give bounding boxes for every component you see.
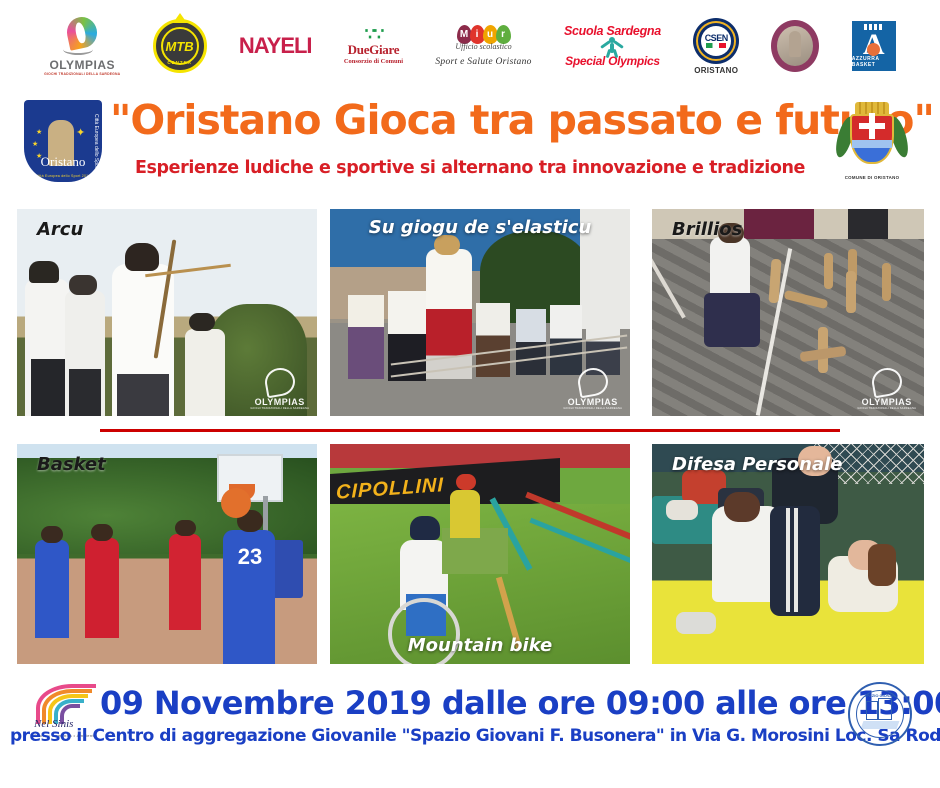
olympias-logo-subtitle: GIOCHI TRADIZIONALI DELLA SARDEGNA xyxy=(44,72,120,76)
due-giare-logo-subtitle: Consorzio di Comuni xyxy=(344,58,403,65)
watermark-title: OLYMPIAS xyxy=(255,397,305,407)
photo-basket: 23 Basket xyxy=(17,444,317,664)
watermark-title: OLYMPIAS xyxy=(862,397,912,407)
watermark-title: OLYMPIAS xyxy=(568,397,618,407)
watermark-subtitle: GIOCHI TRADIZIONALI DELLA SARDEGNA xyxy=(857,407,916,410)
photo-brillios: Brillios OLYMPIAS GIOCHI TRADIZIONALI DE… xyxy=(652,209,924,416)
miur-logo-extra: Sport e Salute Oristano xyxy=(435,57,531,67)
jersey-number: 23 xyxy=(231,544,269,570)
section-divider xyxy=(100,429,840,432)
comune-di-oristano-crest: COMUNE DI ORISTANO xyxy=(832,100,912,184)
due-giare-jars-icon: ∵∵ xyxy=(365,27,383,42)
watermark-subtitle: GIOCHI TRADIZIONALI DELLA SARDEGNA xyxy=(250,407,309,410)
photo-mountain-bike: CIPOLLINI Mountain bike xyxy=(330,444,630,664)
photo-caption: Brillios xyxy=(672,219,742,240)
sartiglia-seal-logo xyxy=(771,20,819,72)
sartiglia-seal-icon xyxy=(771,20,819,72)
event-location: presso il Centro di aggregazione Giovani… xyxy=(10,726,930,746)
azzurra-basket-icon: A AZZURRA BASKET xyxy=(852,21,896,71)
olympias-mark-icon xyxy=(61,17,103,57)
photo-arcu: Arcu OLYMPIAS GIOCHI TRADIZIONALI DELLA … xyxy=(17,209,317,416)
mtb-badge-icon: MTB CENTER xyxy=(153,19,207,73)
azzurra-basket-label: AZZURRA BASKET xyxy=(852,56,896,68)
csen-logo: CSEN ORISTANO xyxy=(693,18,739,75)
mtb-logo-title: MTB xyxy=(166,40,194,53)
azzurra-basket-logo: A AZZURRA BASKET xyxy=(852,21,896,71)
poster-root: OLYMPIAS GIOCHI TRADIZIONALI DELLA SARDE… xyxy=(0,0,940,788)
photo-caption: Mountain bike xyxy=(408,635,553,656)
page-title: "Oristano Gioca tra passato e futuro" xyxy=(110,100,830,141)
comune-crest-caption: COMUNE DI ORISTANO xyxy=(832,175,912,180)
photo-caption: Basket xyxy=(37,454,106,475)
spazio-giovani-logo: SPAZIO GIOVANI xyxy=(848,682,912,746)
watermark-subtitle: GIOCHI TRADIZIONALI DELLA SARDEGNA xyxy=(563,407,622,410)
csen-badge-icon: CSEN xyxy=(693,18,739,64)
shield-icon xyxy=(850,114,894,164)
sponsor-logo-strip: OLYMPIAS GIOCHI TRADIZIONALI DELLA SARDE… xyxy=(0,4,940,88)
csen-logo-extra: ORISTANO xyxy=(694,66,738,75)
olympias-watermark: OLYMPIAS GIOCHI TRADIZIONALI DELLA SARDE… xyxy=(250,368,309,410)
due-giare-logo-title: DueGiare xyxy=(348,42,400,58)
page-subtitle: Esperienze ludiche e sportive si alterna… xyxy=(110,158,830,178)
mtb-logo-subtitle: CENTER xyxy=(167,60,192,65)
photo-difesa-personale: Difesa Personale xyxy=(652,444,924,664)
photo-caption: Difesa Personale xyxy=(672,454,843,475)
photo-su-giogu-de-selasticu: Su giogu de s'elasticu OLYMPIAS GIOCHI T… xyxy=(330,209,630,416)
nayeli-logo-title: NAYELI xyxy=(239,33,312,59)
olympias-watermark: OLYMPIAS GIOCHI TRADIZIONALI DELLA SARDE… xyxy=(563,368,622,410)
olympias-watermark: OLYMPIAS GIOCHI TRADIZIONALI DELLA SARDE… xyxy=(857,368,916,410)
olympias-logo-title: OLYMPIAS xyxy=(49,58,115,72)
nayeli-logo: NAYELI xyxy=(239,33,312,59)
photo-caption: Arcu xyxy=(37,219,83,240)
photo-caption: Su giogu de s'elasticu xyxy=(369,217,592,238)
photo-grid: Arcu OLYMPIAS GIOCHI TRADIZIONALI DELLA … xyxy=(0,204,940,674)
miur-logo: M i u r Ufficio scolastico Sport e Salut… xyxy=(435,25,531,67)
mtb-center-logo: MTB CENTER xyxy=(153,19,207,73)
event-date-time: 09 Novembre 2019 dalle ore 09:00 alle or… xyxy=(100,684,840,722)
special-olympics-figure-icon xyxy=(599,37,625,55)
special-olympics-logo-title: Scuola Sardegna xyxy=(564,24,661,38)
special-olympics-logo-subtitle: Special Olympics xyxy=(565,54,660,68)
olympias-logo: OLYMPIAS GIOCHI TRADIZIONALI DELLA SARDE… xyxy=(44,17,120,76)
miur-logo-subtitle: Ufficio scolastico xyxy=(455,42,511,51)
special-olympics-logo: Scuola Sardegna Special Olympics xyxy=(564,24,661,68)
title-block: "Oristano Gioca tra passato e futuro" Es… xyxy=(0,96,940,196)
due-giare-logo: ∵∵ DueGiare Consorzio di Comuni xyxy=(344,27,403,65)
footer-block: Nel Sinis Storia • Comunità • Ambiente 0… xyxy=(0,676,940,788)
